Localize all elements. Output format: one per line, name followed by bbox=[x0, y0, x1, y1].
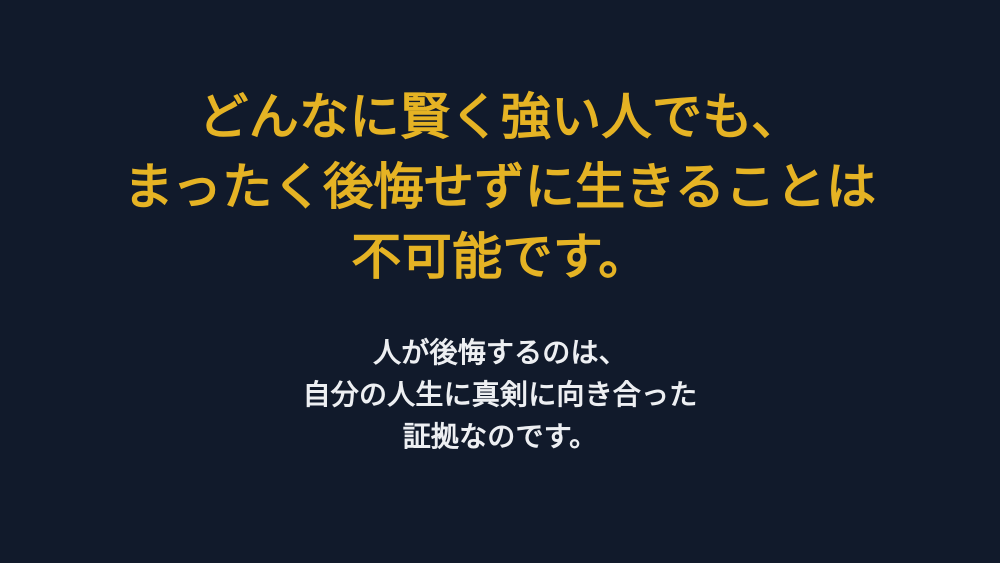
subtitle-block: 人が後悔するのは、 自分の人生に真剣に向き合った 証拠なのです。 bbox=[0, 292, 1000, 458]
slide-content: どんなに賢く強い人でも、 まったく後悔せずに生きることは 不可能です。 人が後悔… bbox=[0, 0, 1000, 458]
subtitle-line-1: 人が後悔するのは、 bbox=[0, 332, 1000, 374]
headline-block: どんなに賢く強い人でも、 まったく後悔せずに生きることは 不可能です。 bbox=[0, 0, 1000, 292]
headline-line-3: 不可能です。 bbox=[0, 222, 1000, 292]
headline-line-2: まったく後悔せずに生きることは bbox=[0, 152, 1000, 222]
headline-line-1: どんなに賢く強い人でも、 bbox=[0, 82, 1000, 152]
subtitle-line-2: 自分の人生に真剣に向き合った bbox=[0, 374, 1000, 416]
subtitle-line-3: 証拠なのです。 bbox=[0, 416, 1000, 458]
quote-slide: どんなに賢く強い人でも、 まったく後悔せずに生きることは 不可能です。 人が後悔… bbox=[0, 0, 1000, 563]
